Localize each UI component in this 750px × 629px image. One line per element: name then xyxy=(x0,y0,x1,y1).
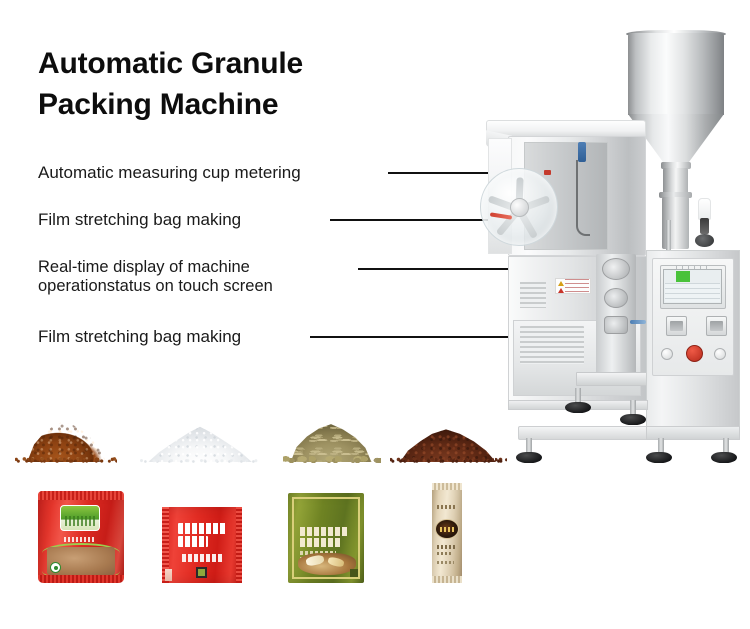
adjustable-foot xyxy=(565,402,591,413)
sensor-cable xyxy=(576,160,590,236)
blue-sensor xyxy=(578,142,586,162)
discharge-tray xyxy=(576,372,648,386)
hopper-neck xyxy=(663,168,688,194)
stick-pack-text-line-1 xyxy=(437,545,456,549)
product-packets-row xyxy=(0,480,520,585)
feature-label-touch-screen: Real-time display of machine operationst… xyxy=(38,258,338,296)
sachet-food-photo xyxy=(298,553,356,575)
sealing-jaw xyxy=(604,316,628,334)
pouch-subtitle-text xyxy=(64,537,96,542)
hmi-header-text xyxy=(676,265,712,269)
sachet-corner-tag xyxy=(350,569,358,577)
machine-lower-vent xyxy=(520,326,584,364)
sachet-brand-line-1 xyxy=(300,527,348,536)
product-fill-tube xyxy=(666,220,671,254)
stick-pack-bottom-seal xyxy=(432,576,462,583)
coffee-day-sugar-sachet xyxy=(162,507,242,583)
sachet-corner-notch xyxy=(165,569,172,581)
dark-cylinder-part xyxy=(700,218,709,234)
panel-square-button-1[interactable] xyxy=(666,316,687,336)
ginger-garlic-seasoning-sachet xyxy=(288,493,364,583)
dark-cocoa-powder-pile xyxy=(398,424,498,462)
stick-pack-logo xyxy=(435,519,459,539)
feature-label-film-stretching-2: Film stretching bag making xyxy=(38,327,241,348)
product-marketing-image: Automatic Granule Packing Machine Automa… xyxy=(0,0,750,629)
feature-label-touch-screen-line-1: Real-time display of machine xyxy=(38,258,338,277)
feature-label-measuring-cup: Automatic measuring cup metering xyxy=(38,163,301,184)
panel-round-button-1[interactable] xyxy=(661,348,673,360)
stainless-hopper-body xyxy=(628,33,724,115)
forming-roller-middle xyxy=(604,288,628,308)
feature-label-film-stretching-1: Film stretching bag making xyxy=(38,210,241,231)
film-reel-hub xyxy=(510,198,529,217)
page-title: Automatic Granule Packing Machine xyxy=(38,44,458,126)
stick-pack-top-text xyxy=(437,505,455,509)
adjustable-foot xyxy=(646,452,672,463)
page-title-line-2: Packing Machine xyxy=(38,85,458,126)
stick-pack-top-seal xyxy=(432,483,462,490)
sachet-brand-line-2 xyxy=(178,536,208,547)
hmi-data-rows xyxy=(665,283,720,302)
sachet-right-seal xyxy=(236,507,242,583)
red-indicator-part xyxy=(544,170,551,175)
olive-feed-pellets-pile xyxy=(288,418,374,462)
pouch-bottom-seal xyxy=(38,575,124,583)
material-samples-row xyxy=(0,392,520,462)
adjustable-foot xyxy=(711,452,737,463)
machine-upper-vent xyxy=(520,282,546,308)
white-sugar-pile xyxy=(146,422,254,462)
pneumatic-fitting xyxy=(630,320,646,324)
sachet-product-text xyxy=(182,554,222,562)
page-title-line-1: Automatic Granule xyxy=(38,44,458,85)
warning-label-text xyxy=(565,279,589,293)
pouch-brand-badge xyxy=(60,505,100,531)
panel-round-button-3[interactable] xyxy=(714,348,726,360)
stick-pack-text-line-3 xyxy=(437,561,454,564)
sachet-brand-line-2 xyxy=(300,538,340,547)
vegetarian-mark-icon xyxy=(50,562,61,573)
adjustment-knob xyxy=(695,234,714,247)
forming-roller-upper xyxy=(602,258,630,280)
feature-label-touch-screen-line-2: operationstatus on touch screen xyxy=(38,277,338,296)
sachet-logo-mark xyxy=(196,567,207,578)
red-pillow-pouch xyxy=(38,491,124,583)
emergency-stop-button[interactable] xyxy=(686,345,703,362)
stick-pack-text-line-2 xyxy=(437,552,452,555)
hmi-status-indicator xyxy=(676,271,690,282)
white-cylinder-part xyxy=(698,198,711,220)
panel-square-button-2[interactable] xyxy=(706,316,727,336)
machine-base-rail xyxy=(518,426,654,440)
beige-stick-pack xyxy=(432,483,462,583)
adjustable-foot xyxy=(620,414,646,425)
sachet-brand-line-1 xyxy=(178,523,226,534)
brown-spice-powder-pile xyxy=(22,416,108,462)
pouch-top-seal xyxy=(38,491,124,500)
